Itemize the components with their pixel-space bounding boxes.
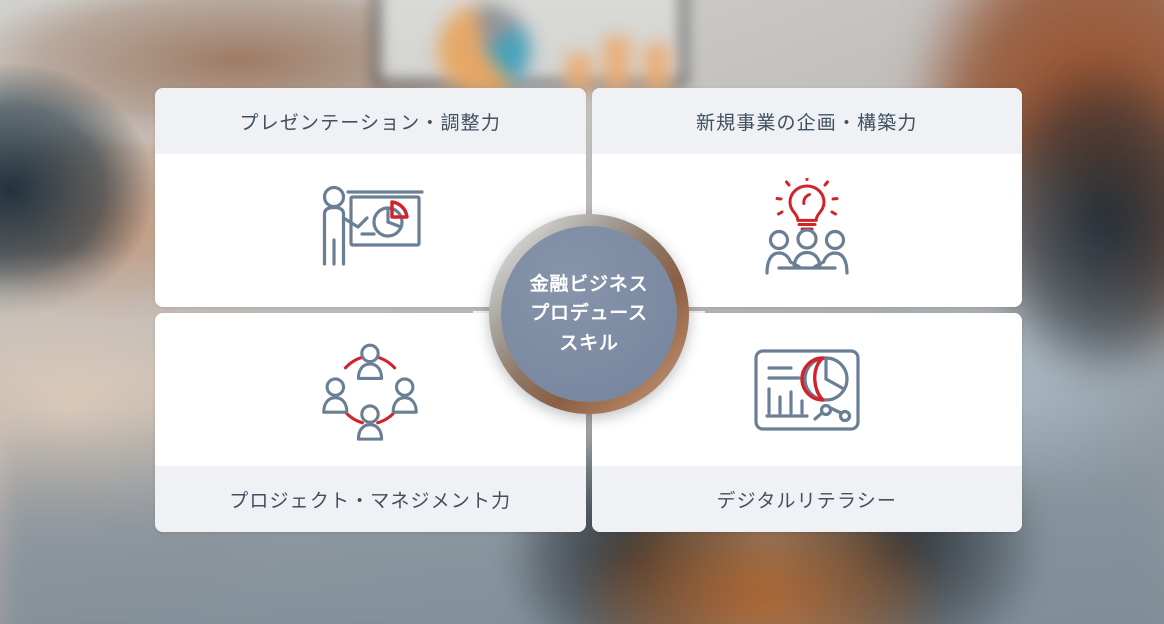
center-medallion: 金融ビジネス プロデュース スキル [489, 214, 689, 414]
center-medallion-inner: 金融ビジネス プロデュース スキル [501, 226, 677, 402]
people-network-circle-icon [310, 337, 430, 443]
background-bar-chart [560, 22, 680, 92]
center-medallion-line-2: プロデュース [530, 301, 648, 327]
center-medallion-line-3: スキル [559, 331, 618, 357]
team-lightbulb-icon [747, 178, 867, 284]
skill-card-label: 新規事業の企画・構築力 [592, 88, 1023, 154]
skill-card-label: デジタルリテラシー [592, 466, 1023, 532]
center-medallion-line-1: 金融ビジネス [530, 272, 649, 298]
skill-card-label: プロジェクト・マネジメント力 [155, 466, 586, 532]
skill-card-label: プレゼンテーション・調整力 [155, 88, 586, 154]
presenter-whiteboard-pie-icon [310, 178, 430, 284]
dashboard-charts-icon [747, 337, 867, 443]
background-pie-chart [438, 4, 530, 96]
skill-diagram-stage: プレゼンテーション・調整力 [0, 0, 1164, 624]
